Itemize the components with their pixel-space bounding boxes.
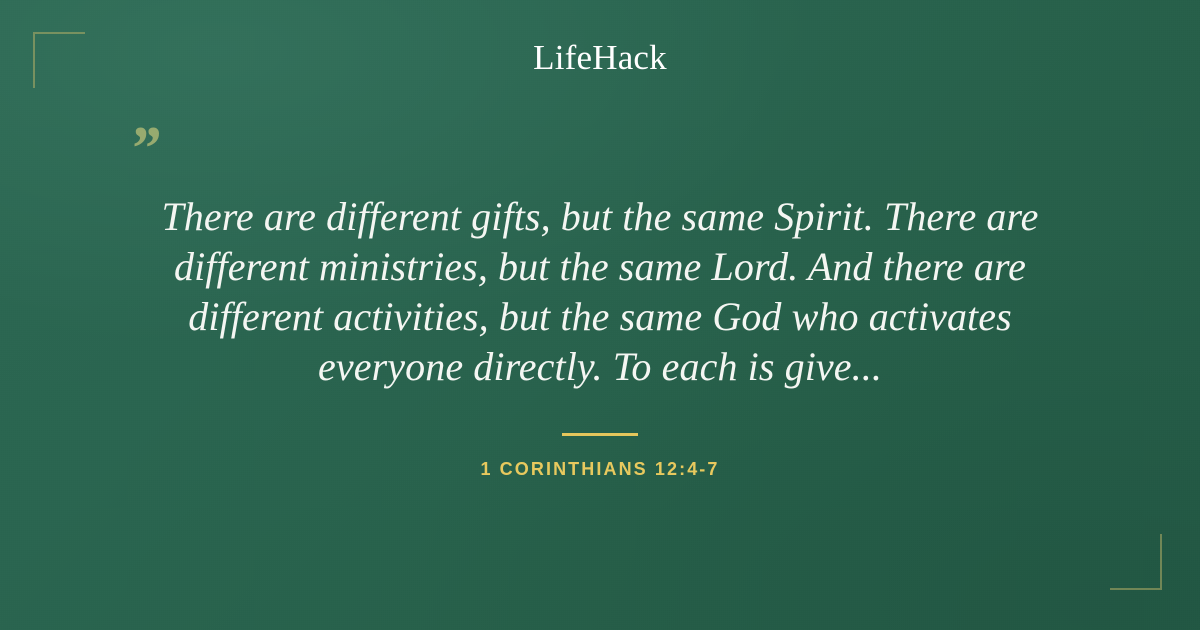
brand-header: LifeHack — [0, 40, 1200, 75]
quote-block: ” There are different gifts, but the sam… — [0, 118, 1200, 480]
corner-bracket-bottom-right-icon — [1110, 534, 1162, 590]
quote-text: There are different gifts, but the same … — [140, 192, 1060, 392]
quote-card: LifeHack ” There are different gifts, bu… — [0, 0, 1200, 630]
divider-rule — [562, 433, 638, 436]
quote-attribution: 1 CORINTHIANS 12:4-7 — [0, 459, 1200, 480]
brand-logo-text: LifeHack — [533, 40, 667, 75]
quotation-mark-icon: ” — [129, 118, 158, 180]
